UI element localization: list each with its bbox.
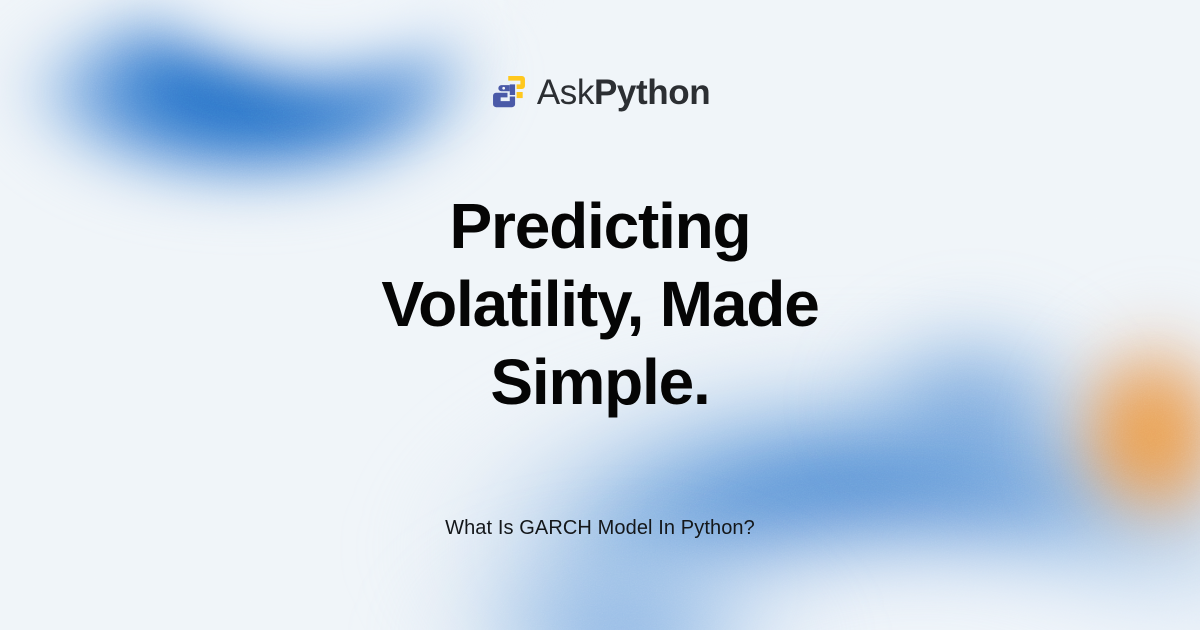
headline-line-1: Predicting (450, 190, 751, 262)
brand-logo[interactable]: AskPython (490, 69, 710, 115)
card-content: AskPython Predicting Volatility, Made Si… (0, 0, 1200, 630)
brand-word-python: Python (594, 73, 710, 112)
askpython-logo-icon (490, 73, 528, 111)
brand-wordmark: AskPython (537, 75, 710, 110)
page-title: Predicting Volatility, Made Simple. (280, 187, 920, 421)
social-share-card: AskPython Predicting Volatility, Made Si… (0, 0, 1200, 630)
brand-word-ask: Ask (537, 73, 594, 112)
page-subtitle: What Is GARCH Model In Python? (0, 515, 1200, 541)
headline-line-2: Volatility, Made (381, 268, 818, 340)
headline-line-3: Simple. (490, 346, 709, 418)
